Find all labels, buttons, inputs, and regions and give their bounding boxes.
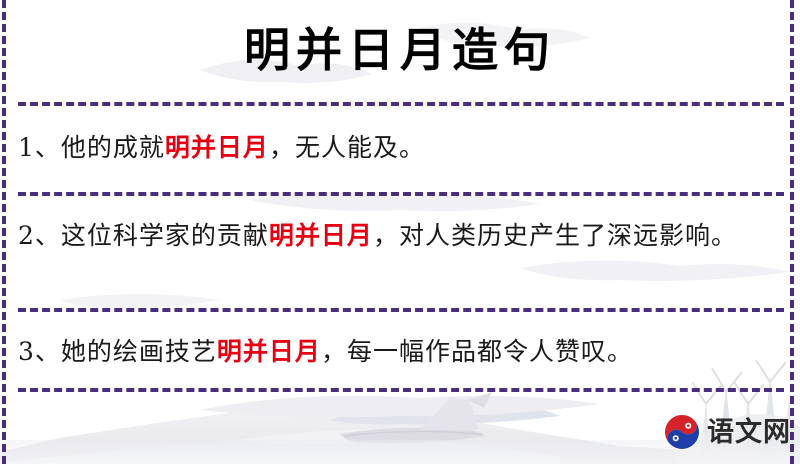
worksheet-page: 明并日月造句 1、他的成就明并日月，无人能及。 2、这位科学家的贡献明并日月，对… [0,0,800,464]
separator-after-sentence-3 [18,388,784,392]
idiom-highlight-3: 明并日月 [217,337,321,366]
sentence-text-after-3: ，每一幅作品都令人赞叹。 [321,337,633,366]
separator-after-sentence-2 [18,308,784,312]
idiom-highlight-2: 明并日月 [269,221,373,250]
right-dashed-border [790,0,794,464]
separator-after-sentence-1 [18,192,784,196]
sentence-text-before-1: 他的成就 [61,133,165,162]
left-dashed-border [2,0,6,464]
sentence-number-2: 2、 [18,221,61,250]
sentence-number-3: 3、 [18,337,61,366]
sentence-item-3: 3、她的绘画技艺明并日月，每一幅作品都令人赞叹。 [18,330,778,374]
sentence-text-after-1: ，无人能及。 [269,133,425,162]
sentence-item-2: 2、这位科学家的贡献明并日月，对人类历史产生了深远影响。 [18,214,778,258]
page-title: 明并日月造句 [0,22,800,80]
sentence-text-before-3: 她的绘画技艺 [61,337,217,366]
sentence-number-1: 1、 [18,133,61,162]
site-logo[interactable]: 语文网 [663,413,791,451]
yin-yang-fish-logo-icon [663,413,701,451]
sentence-text-before-2: 这位科学家的贡献 [61,221,269,250]
separator-top [18,102,784,106]
sentence-text-after-2: ，对人类历史产生了深远影响。 [373,221,737,250]
sentence-item-1: 1、他的成就明并日月，无人能及。 [18,126,778,170]
site-logo-text: 语文网 [707,419,791,446]
idiom-highlight-1: 明并日月 [165,133,269,162]
